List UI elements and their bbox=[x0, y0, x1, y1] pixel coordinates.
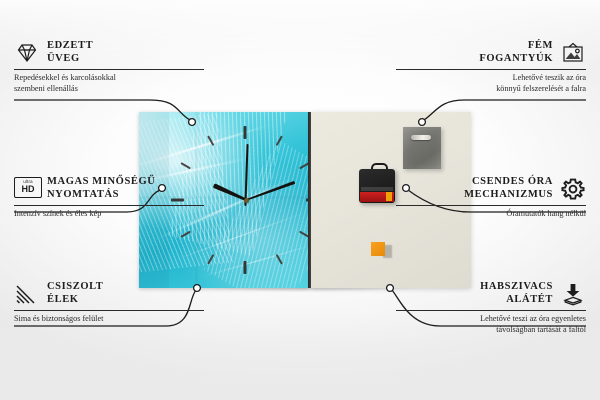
hour-marker bbox=[276, 254, 283, 265]
metal-hanger-part bbox=[403, 127, 441, 169]
callout-sub-line1: Lehetővé teszi az óra egyenletes bbox=[396, 314, 586, 325]
callout-sub-line2: szembeni ellenállás bbox=[14, 84, 204, 95]
callout-title-line1: CSENDES ÓRA bbox=[396, 176, 553, 189]
callout-sub-line1: Lehetővé teszik az óra bbox=[396, 73, 586, 84]
callout-polished-edges[interactable]: CSISZOLT ÉLEK Sima és biztonságos felüle… bbox=[14, 281, 204, 325]
hour-marker bbox=[243, 126, 246, 139]
foam-pad-part bbox=[371, 242, 385, 256]
callout-high-quality-print[interactable]: ultra HD MAGAS MINŐSÉGŰ NYOMTATÁS Intenz… bbox=[14, 176, 204, 220]
second-hand bbox=[245, 144, 249, 206]
gear-icon bbox=[560, 177, 586, 201]
callout-tempered-glass[interactable]: EDZETT ÜVEG Repedésekkel és karcolásokka… bbox=[14, 40, 204, 94]
callout-header: HABSZIVACS ALÁTÉT bbox=[396, 281, 586, 306]
callout-divider bbox=[396, 69, 586, 70]
callout-sub-line1: Intenzív színek és éles kép bbox=[14, 209, 204, 220]
callout-title-line1: HABSZIVACS bbox=[396, 281, 553, 294]
callout-sub-line1: Óramutatók hang nélkül bbox=[396, 209, 586, 220]
callout-divider bbox=[14, 69, 204, 70]
callout-divider bbox=[14, 205, 204, 206]
hour-marker bbox=[243, 261, 246, 274]
callout-header: CSISZOLT ÉLEK bbox=[14, 281, 204, 306]
callout-title-line2: ÜVEG bbox=[47, 53, 93, 66]
callout-divider bbox=[396, 310, 586, 311]
callout-divider bbox=[14, 310, 204, 311]
hour-hand bbox=[212, 183, 247, 202]
picture-frame-hanger-icon bbox=[560, 41, 586, 65]
callout-divider bbox=[396, 205, 586, 206]
callout-title-line1: EDZETT bbox=[47, 40, 93, 53]
polished-edge-icon bbox=[14, 282, 40, 306]
callout-sub-line2: távolságban tartását a faltól bbox=[396, 325, 586, 336]
clock-mechanism-part bbox=[359, 169, 395, 203]
mechanism-label bbox=[360, 192, 394, 202]
badge-large-text: HD bbox=[22, 185, 35, 194]
foam-pad-arrow-icon bbox=[560, 282, 586, 306]
callout-header: CSENDES ÓRA MECHANIZMUS bbox=[396, 176, 586, 201]
mechanism-detail bbox=[361, 187, 393, 191]
callout-title-line2: ALÁTÉT bbox=[396, 294, 553, 307]
callout-title-line2: NYOMTATÁS bbox=[47, 189, 155, 202]
infographic-canvas: EDZETT ÜVEG Repedésekkel és karcolásokka… bbox=[0, 0, 600, 400]
callout-title-line2: ÉLEK bbox=[47, 294, 103, 307]
callout-title-line2: MECHANIZMUS bbox=[396, 189, 553, 202]
hour-marker bbox=[276, 135, 283, 146]
clock-center-cap bbox=[244, 198, 249, 203]
callout-title-line1: MAGAS MINŐSÉGŰ bbox=[47, 176, 155, 189]
hour-marker bbox=[207, 135, 214, 146]
minute-hand bbox=[245, 180, 295, 202]
callout-metal-hangers[interactable]: FÉM FOGANTYÚK Lehetővé teszik az óra kön… bbox=[396, 40, 586, 94]
callout-title-line1: FÉM bbox=[396, 40, 553, 53]
callout-sub-line1: Repedésekkel és karcolásokkal bbox=[14, 73, 204, 84]
callout-title-line2: FOGANTYÚK bbox=[396, 53, 553, 66]
callout-title-line1: CSISZOLT bbox=[47, 281, 103, 294]
callout-foam-pad[interactable]: HABSZIVACS ALÁTÉT Lehetővé teszi az óra … bbox=[396, 281, 586, 335]
callout-quiet-mechanism[interactable]: CSENDES ÓRA MECHANIZMUS Óramutatók hang … bbox=[396, 176, 586, 220]
callout-header: ultra HD MAGAS MINŐSÉGŰ NYOMTATÁS bbox=[14, 176, 204, 201]
diamond-icon bbox=[14, 41, 40, 65]
callout-header: FÉM FOGANTYÚK bbox=[396, 40, 586, 65]
callout-sub-line2: könnyű felszerelését a falra bbox=[396, 84, 586, 95]
callout-sub-line1: Sima és biztonságos felület bbox=[14, 314, 204, 325]
callout-header: EDZETT ÜVEG bbox=[14, 40, 204, 65]
ultra-hd-badge-icon: ultra HD bbox=[14, 177, 40, 201]
hour-marker bbox=[180, 162, 191, 169]
hour-marker bbox=[207, 254, 214, 265]
hour-marker bbox=[180, 231, 191, 238]
